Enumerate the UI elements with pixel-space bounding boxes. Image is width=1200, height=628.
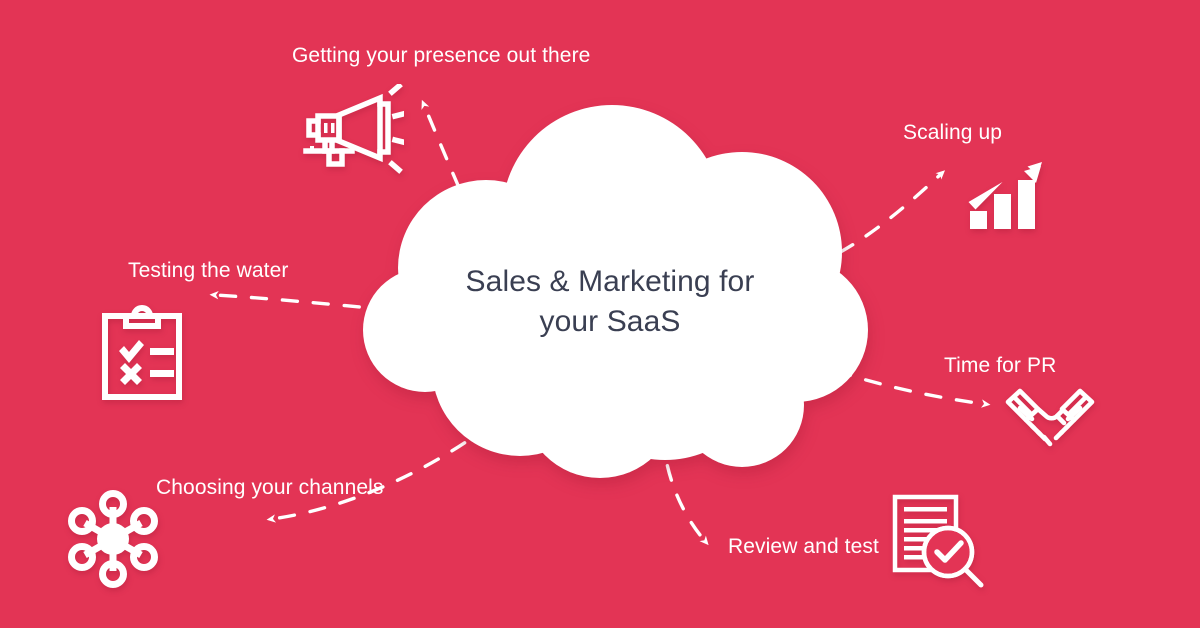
branch-label-testing: Testing the water: [128, 260, 288, 281]
branch-label-pr: Time for PR: [944, 355, 1056, 376]
megaphone-icon: [296, 84, 404, 176]
page-title: Sales & Marketing for your SaaS: [400, 262, 820, 342]
handshake-icon: [1004, 388, 1096, 450]
center-title-line-1: Sales & Marketing for: [400, 262, 820, 302]
branch-label-review: Review and test: [728, 536, 879, 557]
infographic-canvas: Sales & Marketing for your SaaS Getting …: [0, 0, 1200, 628]
branch-label-channels: Choosing your channels: [156, 477, 384, 498]
document-magnifier-check-icon: [886, 490, 986, 590]
center-title-line-2: your SaaS: [400, 302, 820, 342]
growth-bar-chart-icon: [966, 160, 1046, 232]
clipboard-checklist-icon: [100, 304, 184, 402]
network-hub-icon: [64, 490, 162, 588]
branch-label-scaling: Scaling up: [903, 122, 1002, 143]
branch-label-presence: Getting your presence out there: [292, 45, 590, 66]
